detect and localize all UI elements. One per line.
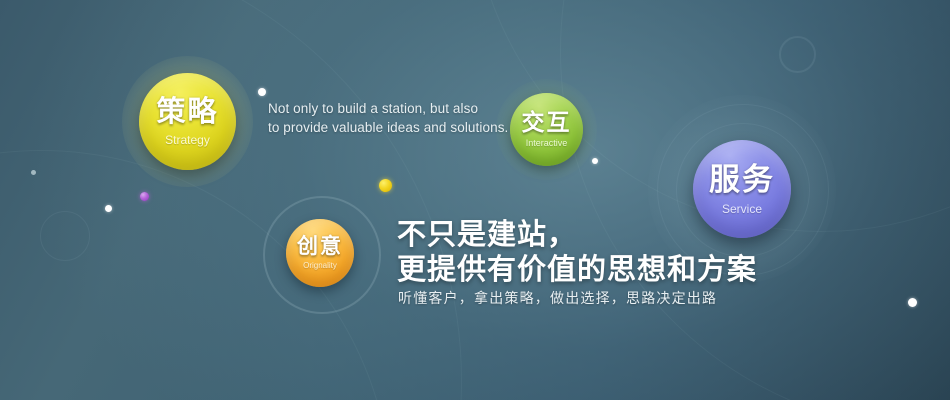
promo-banner: 策略 Strategy 交互 Interactive 创意 Orignality… <box>0 0 950 400</box>
background-arc-lower-left <box>0 0 462 400</box>
bubble-orignality-cn-label: 创意 <box>297 236 343 257</box>
headline-line1: 不只是建站， <box>397 218 757 253</box>
bubble-orignality-en-label: Orignality <box>303 262 337 270</box>
subline: 听懂客户，拿出策略，做出选择，思路决定出路 <box>398 288 717 308</box>
tagline-english-line1: Not only to build a station, but also <box>268 99 528 118</box>
bubble-orignality[interactable]: 创意 Orignality <box>286 219 354 287</box>
decor-dot-white-3 <box>592 158 598 164</box>
tagline-english-line2: to provide valuable ideas and solutions. <box>268 118 528 137</box>
background-ring-left <box>40 211 90 261</box>
headline: 不只是建站， 更提供有价值的思想和方案 <box>397 218 757 288</box>
bubble-interactive-cn-label: 交互 <box>522 111 572 134</box>
decor-dot-purple <box>140 192 149 201</box>
decor-dot-yellow <box>379 179 392 192</box>
bubble-strategy-en-label: Strategy <box>165 134 210 146</box>
decor-dot-white-2 <box>105 205 112 212</box>
bubble-service-cn-label: 服务 <box>709 164 775 195</box>
tagline-english: Not only to build a station, but also to… <box>268 99 528 137</box>
decor-dot-white-1 <box>258 88 266 96</box>
bubble-service-en-label: Service <box>722 203 762 215</box>
bubble-interactive-en-label: Interactive <box>526 139 568 148</box>
bubble-strategy[interactable]: 策略 Strategy <box>139 73 236 170</box>
bubble-strategy-cn-label: 策略 <box>156 98 218 127</box>
decor-dot-pale-1 <box>31 170 36 175</box>
headline-line2: 更提供有价值的思想和方案 <box>397 253 757 288</box>
decor-dot-white-4 <box>908 298 917 307</box>
background-ring-top-right <box>779 36 816 73</box>
